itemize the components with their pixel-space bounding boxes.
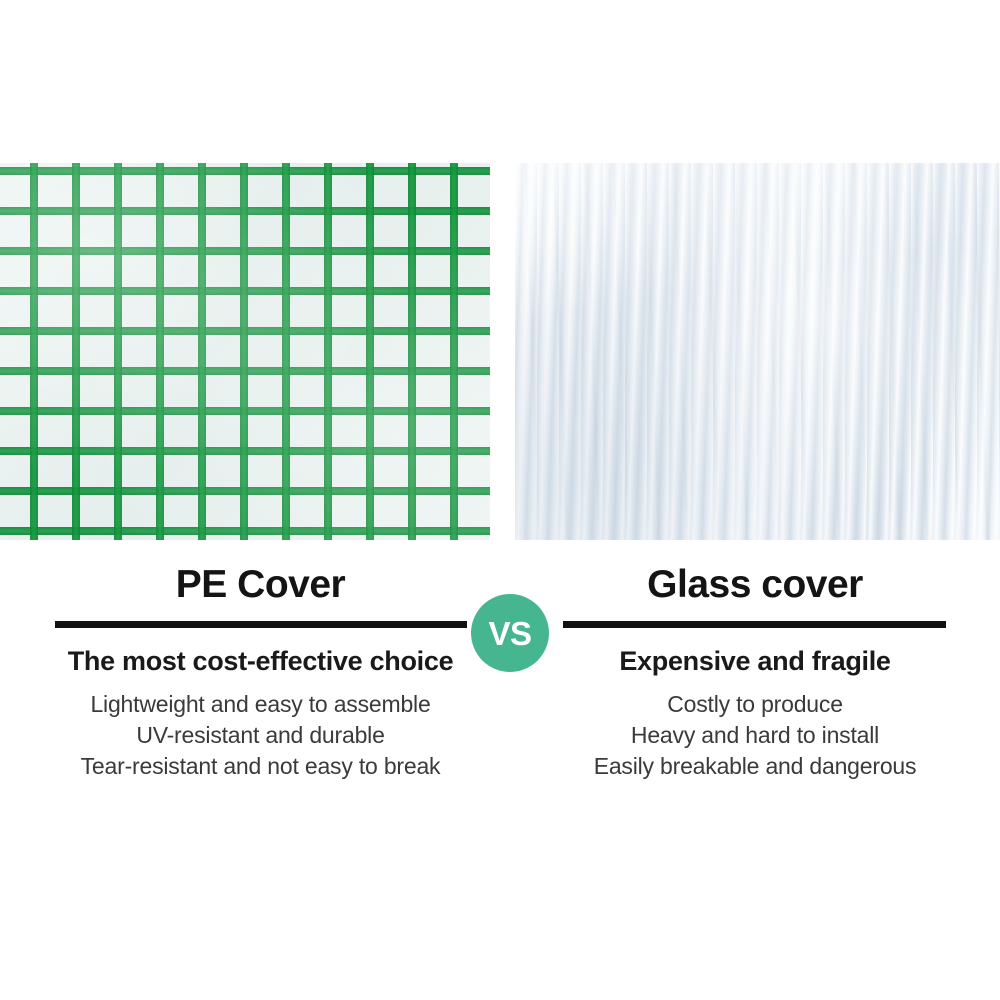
- list-item: Lightweight and easy to assemble: [28, 689, 493, 720]
- list-item: Tear-resistant and not easy to break: [28, 751, 493, 782]
- list-item: Heavy and hard to install: [535, 720, 975, 751]
- glass-cloth-photo: [515, 163, 1000, 540]
- versus-label: VS: [488, 617, 531, 650]
- list-item: Easily breakable and dangerous: [535, 751, 975, 782]
- glass-cover-title: Glass cover: [535, 562, 975, 608]
- glass-cover-divider: [563, 621, 946, 628]
- pe-mesh-texture: [0, 163, 490, 540]
- glass-cover-column: Glass cover Expensive and fragile Costly…: [535, 562, 975, 798]
- list-item: Costly to produce: [535, 689, 975, 720]
- pe-cover-benefit-list: Lightweight and easy to assemble UV-resi…: [28, 689, 493, 782]
- pe-cover-column: PE Cover The most cost-effective choice …: [28, 562, 493, 798]
- pe-cover-subtitle: The most cost-effective choice: [28, 645, 493, 677]
- pe-cover-divider: [55, 621, 467, 628]
- glass-cloth-texture: [515, 163, 1000, 540]
- glass-cover-drawback-list: Costly to produce Heavy and hard to inst…: [535, 689, 975, 782]
- pe-mesh-photo: [0, 163, 490, 540]
- comparison-infographic: PE Cover The most cost-effective choice …: [0, 0, 1000, 1000]
- list-item: UV-resistant and durable: [28, 720, 493, 751]
- glass-cover-subtitle: Expensive and fragile: [535, 645, 975, 677]
- pe-cover-title: PE Cover: [28, 562, 493, 608]
